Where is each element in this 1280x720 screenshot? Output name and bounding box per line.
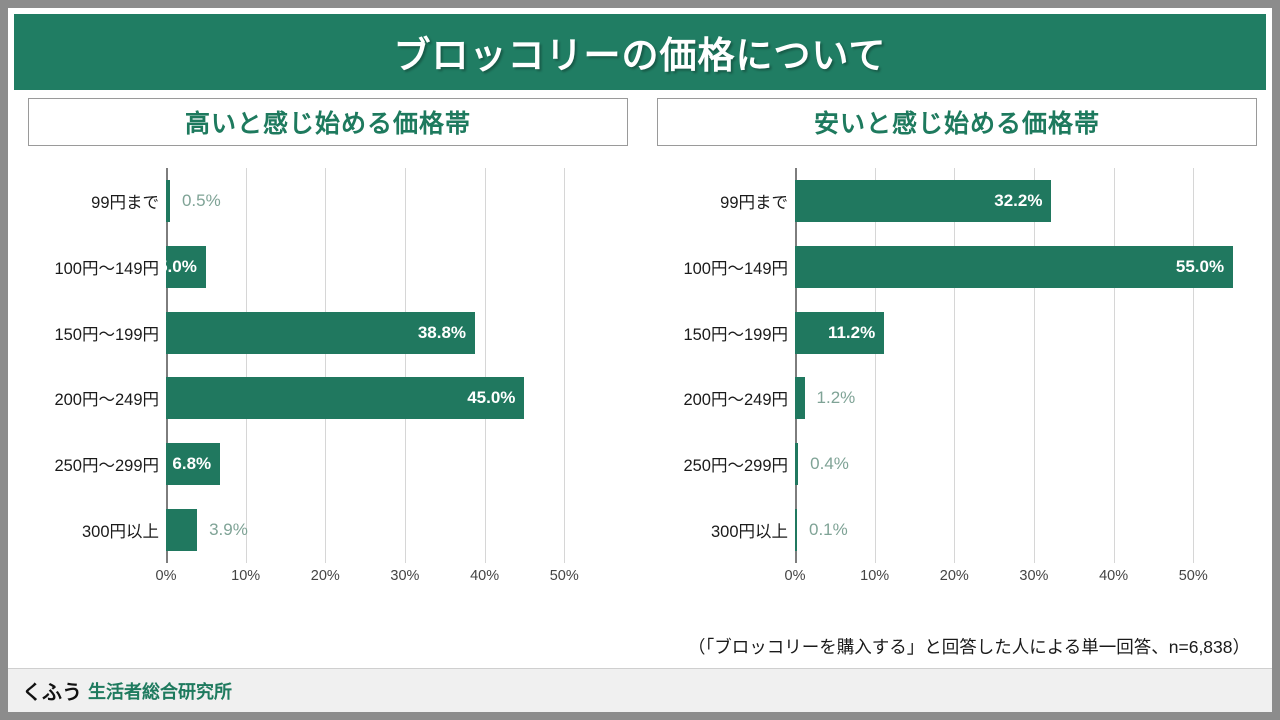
bar-value-label: 1.2% [817, 388, 856, 408]
x-tick-label: 0% [156, 568, 177, 584]
bar-row: 150円〜199円38.8% [166, 300, 620, 366]
x-tick-label: 50% [550, 568, 579, 584]
bar-row: 200円〜249円45.0% [166, 366, 620, 432]
category-label: 200円〜249円 [683, 386, 788, 410]
bar-value-label: 55.0% [1176, 257, 1233, 277]
category-label: 100円〜149円 [54, 255, 159, 279]
category-label: 99円まで [720, 189, 788, 213]
bar: 0.5% [166, 180, 170, 222]
bar: 3.9% [166, 509, 197, 551]
x-tick-label: 10% [231, 568, 260, 584]
bar: 1.2% [795, 377, 805, 419]
bar: 0.1% [795, 509, 797, 551]
chart-panel-right: 安いと感じ始める価格帯 99円まで32.2%100円〜149円55.0%150円… [657, 98, 1257, 598]
x-tick-label: 50% [1179, 568, 1208, 584]
bar-value-label: 38.8% [418, 323, 475, 343]
slide: ブロッコリーの価格について 高いと感じ始める価格帯 99円まで0.5%100円〜… [8, 8, 1272, 712]
plot-area-left: 99円まで0.5%100円〜149円5.0%150円〜199円38.8%200円… [166, 168, 620, 563]
bar: 5.0% [166, 246, 206, 288]
chart-panel-left: 高いと感じ始める価格帯 99円まで0.5%100円〜149円5.0%150円〜1… [28, 98, 628, 598]
bar-row: 250円〜299円6.8% [166, 431, 620, 497]
bar-value-label: 0.5% [182, 191, 221, 211]
panel-header-left-label: 高いと感じ始める価格帯 [185, 104, 471, 140]
bar-row: 300円以上3.9% [166, 497, 620, 563]
x-axis-ticks-left: 0%10%20%30%40%50% [166, 568, 620, 590]
bar-value-label: 0.1% [809, 520, 848, 540]
bar-value-label: 3.9% [209, 520, 248, 540]
x-tick-label: 30% [1019, 568, 1048, 584]
bar-value-label: 0.4% [810, 454, 849, 474]
bar-row: 200円〜249円1.2% [795, 366, 1249, 432]
bar-row: 250円〜299円0.4% [795, 431, 1249, 497]
bar-row: 300円以上0.1% [795, 497, 1249, 563]
bar: 38.8% [166, 312, 475, 354]
bar: 6.8% [166, 443, 220, 485]
bar-row: 100円〜149円5.0% [166, 234, 620, 300]
bar-row: 100円〜149円55.0% [795, 234, 1249, 300]
category-label: 99円まで [91, 189, 159, 213]
bar: 32.2% [795, 180, 1051, 222]
category-label: 150円〜199円 [683, 321, 788, 345]
panel-header-right-label: 安いと感じ始める価格帯 [814, 104, 1100, 140]
slide-title-bar: ブロッコリーの価格について [14, 14, 1266, 90]
bar-value-label: 45.0% [467, 388, 524, 408]
bar-row: 150円〜199円11.2% [795, 300, 1249, 366]
x-axis-ticks-right: 0%10%20%30%40%50% [795, 568, 1249, 590]
category-label: 300円以上 [711, 518, 788, 542]
bar-chart-left: 99円まで0.5%100円〜149円5.0%150円〜199円38.8%200円… [28, 168, 628, 598]
bar-value-label: 11.2% [828, 323, 884, 343]
bar: 55.0% [795, 246, 1233, 288]
bar-value-label: 6.8% [172, 454, 220, 474]
x-tick-label: 40% [470, 568, 499, 584]
x-tick-label: 10% [860, 568, 889, 584]
category-label: 300円以上 [82, 518, 159, 542]
x-tick-label: 20% [940, 568, 969, 584]
bar-value-label: 5.0% [158, 257, 206, 277]
category-label: 250円〜299円 [54, 452, 159, 476]
footer-bar: くふう 生活者総合研究所 [8, 668, 1272, 712]
bar-rows-left: 99円まで0.5%100円〜149円5.0%150円〜199円38.8%200円… [166, 168, 620, 563]
footer-brand: くふう [22, 676, 82, 705]
bar: 0.4% [795, 443, 798, 485]
bar-row: 99円まで32.2% [795, 168, 1249, 234]
page-title: ブロッコリーの価格について [394, 25, 887, 79]
bar: 11.2% [795, 312, 884, 354]
bar-rows-right: 99円まで32.2%100円〜149円55.0%150円〜199円11.2%20… [795, 168, 1249, 563]
panel-header-left: 高いと感じ始める価格帯 [28, 98, 628, 146]
footer-brand-sub: 生活者総合研究所 [88, 678, 232, 704]
x-tick-label: 30% [390, 568, 419, 584]
category-label: 250円〜299円 [683, 452, 788, 476]
x-tick-label: 0% [785, 568, 806, 584]
x-tick-label: 40% [1099, 568, 1128, 584]
panel-header-right: 安いと感じ始める価格帯 [657, 98, 1257, 146]
category-label: 200円〜249円 [54, 386, 159, 410]
bar-value-label: 32.2% [994, 191, 1051, 211]
category-label: 100円〜149円 [683, 255, 788, 279]
category-label: 150円〜199円 [54, 321, 159, 345]
footnote: （「ブロッコリーを購入する」と回答した人による単一回答、n=6,838） [688, 634, 1250, 659]
bar: 45.0% [166, 377, 524, 419]
bar-row: 99円まで0.5% [166, 168, 620, 234]
x-tick-label: 20% [311, 568, 340, 584]
bar-chart-right: 99円まで32.2%100円〜149円55.0%150円〜199円11.2%20… [657, 168, 1257, 598]
plot-area-right: 99円まで32.2%100円〜149円55.0%150円〜199円11.2%20… [795, 168, 1249, 563]
